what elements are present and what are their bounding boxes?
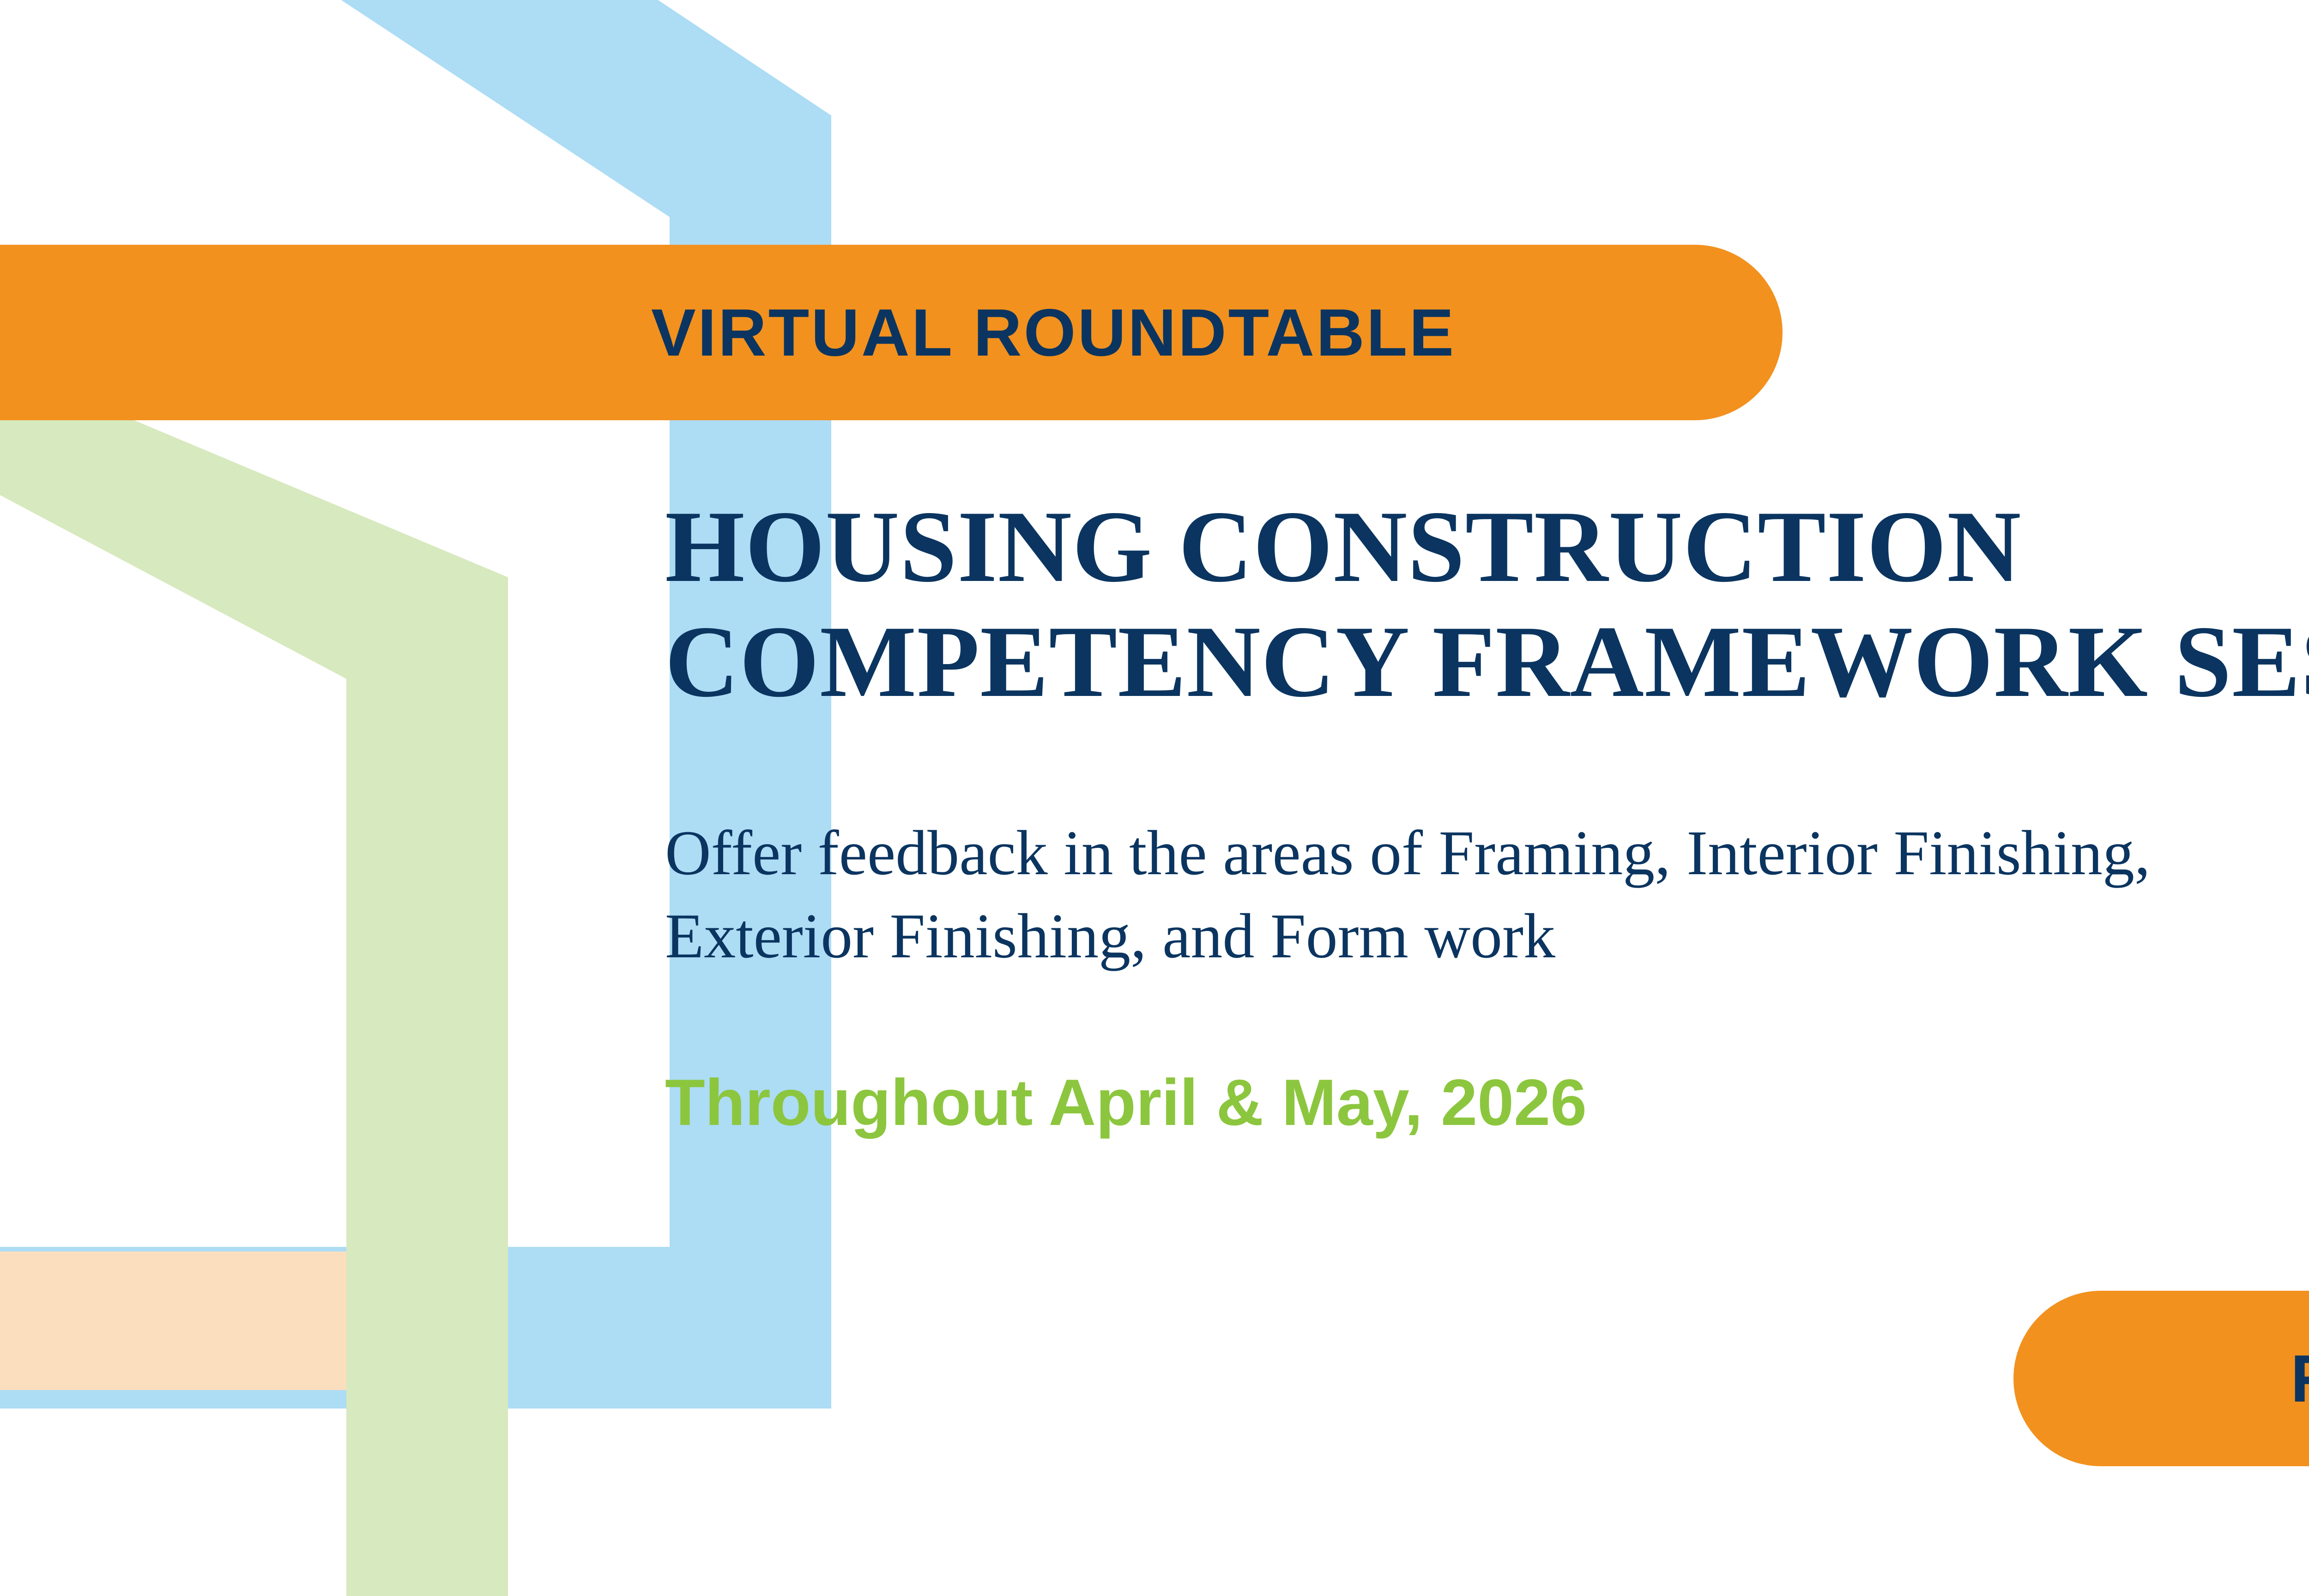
headline-line-1: HOUSING CONSTRUCTION xyxy=(665,490,2309,605)
headline-line-2: COMPETENCY FRAMEWORK SESSIONS xyxy=(665,605,2309,719)
deco-house-green-icon xyxy=(0,286,508,1596)
promotional-banner: VIRTUAL ROUNDTABLE HOUSING CONSTRUCTION … xyxy=(0,0,2309,1596)
description-text: Offer feedback in the areas of Framing, … xyxy=(665,719,2309,977)
deco-house-blue-base-icon xyxy=(0,1247,831,1409)
content-column: HOUSING CONSTRUCTION COMPETENCY FRAMEWOR… xyxy=(665,490,2309,1141)
page-title: HOUSING CONSTRUCTION COMPETENCY FRAMEWOR… xyxy=(665,490,2309,719)
register-now-button[interactable]: REGISTER NOW xyxy=(2013,1291,2309,1466)
event-date: Throughout April & May, 2026 xyxy=(665,977,2309,1141)
eyebrow-badge: VIRTUAL ROUNDTABLE xyxy=(0,245,1783,420)
description-line-2: Exterior Finishing, and Form work xyxy=(665,895,2309,977)
register-now-label: REGISTER NOW xyxy=(2291,1340,2309,1417)
description-line-1: Offer feedback in the areas of Framing, … xyxy=(665,811,2309,894)
deco-house-orange-base-icon xyxy=(0,1251,346,1390)
eyebrow-label: VIRTUAL ROUNDTABLE xyxy=(651,294,1456,371)
